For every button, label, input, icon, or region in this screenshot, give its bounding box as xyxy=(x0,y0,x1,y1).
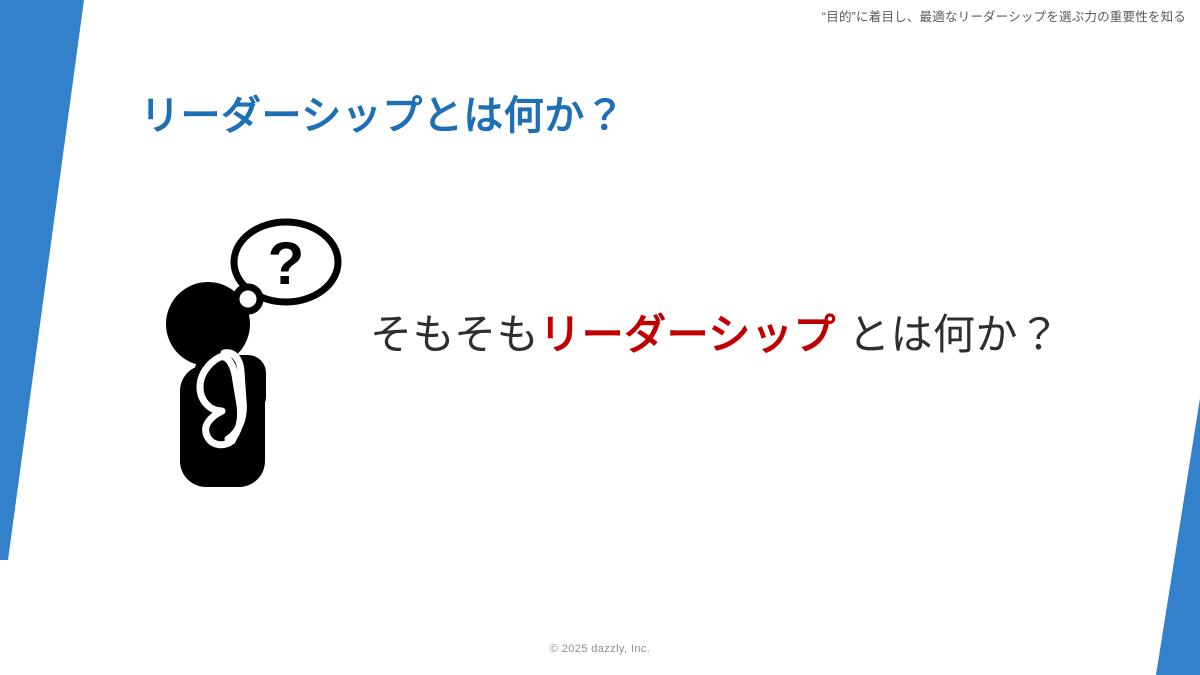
top-left-blue-wedge xyxy=(0,0,84,560)
main-statement: そもそもリーダーシップ とは何か？ xyxy=(370,305,1061,365)
thought-bubble: ? xyxy=(234,222,338,311)
bottom-right-blue-wedge xyxy=(1156,398,1200,675)
thinking-person-icon: ? xyxy=(160,205,360,495)
statement-tail: とは何か？ xyxy=(836,311,1061,358)
bubble-tail-dot xyxy=(236,287,260,311)
copyright-footer: © 2025 dazzly, Inc. xyxy=(0,641,1200,657)
statement-lead: そもそも xyxy=(370,311,539,358)
header-strapline: “目的”に着目し、最適なリーダーシップを選ぶ力の重要性を知る xyxy=(822,8,1186,26)
statement-highlight: リーダーシップ xyxy=(539,311,836,358)
slide-canvas: “目的”に着目し、最適なリーダーシップを選ぶ力の重要性を知る リーダーシップとは… xyxy=(0,0,1200,675)
question-mark-glyph: ? xyxy=(268,230,305,297)
page-title: リーダーシップとは何か？ xyxy=(140,89,625,143)
